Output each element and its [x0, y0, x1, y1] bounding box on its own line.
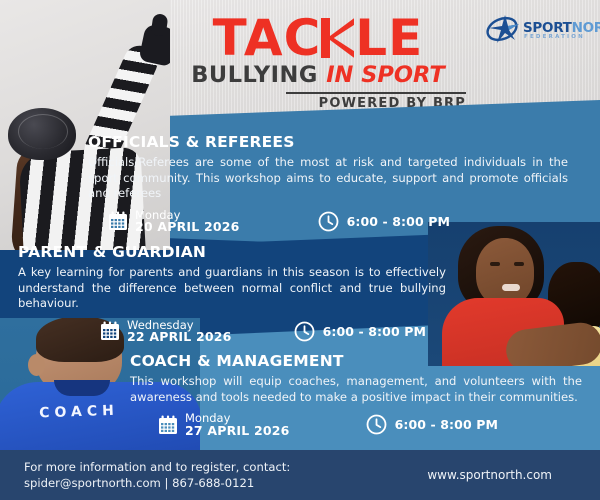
- poster-title-block: TAC LE BULLYING IN SPORT POWERED BY BRP: [168, 12, 468, 111]
- clock-icon: [318, 211, 339, 232]
- contact-block: For more information and to register, co…: [24, 460, 290, 491]
- time-group: 6:00 - 8:00 PM: [318, 211, 450, 232]
- event-date: 27 APRIL 2026: [185, 425, 290, 438]
- section-parent-guardian: PARENT & GUARDIAN A key learning for par…: [18, 243, 446, 344]
- parent-guardian-photo: [428, 222, 600, 366]
- calendar-icon: [108, 211, 128, 231]
- footer-bar: For more information and to register, co…: [0, 450, 600, 500]
- date-text: Monday 20 APRIL 2026: [135, 209, 240, 234]
- title-in-sport: IN SPORT: [326, 62, 445, 88]
- sportnorth-logo: SPORTNORTH FEDERATION: [485, 14, 590, 48]
- calendar-icon: [100, 321, 120, 341]
- clock-icon: [294, 321, 315, 342]
- section-body: Officials/Referees are some of the most …: [88, 155, 568, 202]
- poster-root: daretocare TAC LE BULLYING IN SPORT POWE…: [0, 0, 600, 500]
- time-group: 6:00 - 8:00 PM: [294, 321, 426, 342]
- compass-star-icon: [485, 14, 525, 46]
- title-tackle: TAC LE: [168, 12, 468, 64]
- title-k-glyph: [321, 12, 355, 64]
- title-tackle-part1: TAC: [213, 12, 322, 64]
- date-text: Wednesday 22 APRIL 2026: [127, 319, 232, 344]
- section-coach-management: COACH & MANAGEMENT This workshop will eq…: [130, 352, 582, 437]
- section-meta: Monday 20 APRIL 2026 6:00 - 8:00 PM: [88, 209, 568, 234]
- section-heading: COACH & MANAGEMENT: [130, 352, 582, 370]
- date-text: Monday 27 APRIL 2026: [185, 412, 290, 437]
- section-heading: OFFICIALS & REFEREES: [88, 133, 568, 151]
- section-body: This workshop will equip coaches, manage…: [130, 374, 582, 405]
- date-group: Monday 20 APRIL 2026: [108, 209, 240, 234]
- event-time: 6:00 - 8:00 PM: [395, 417, 498, 432]
- sportnorth-subtitle: FEDERATION: [524, 34, 585, 40]
- time-group: 6:00 - 8:00 PM: [366, 414, 498, 435]
- section-heading: PARENT & GUARDIAN: [18, 243, 446, 261]
- title-tackle-part2: LE: [355, 12, 423, 64]
- section-meta: Wednesday 22 APRIL 2026 6:00 - 8:00 PM: [18, 319, 446, 344]
- date-group: Monday 27 APRIL 2026: [158, 412, 290, 437]
- clock-icon: [366, 414, 387, 435]
- title-divider: [286, 92, 466, 94]
- section-meta: Monday 27 APRIL 2026 6:00 - 8:00 PM: [130, 412, 582, 437]
- title-bullying: BULLYING: [191, 62, 318, 88]
- website-link[interactable]: www.sportnorth.com: [427, 468, 552, 482]
- event-time: 6:00 - 8:00 PM: [323, 324, 426, 339]
- calendar-icon: [158, 415, 178, 435]
- section-body: A key learning for parents and guardians…: [18, 265, 446, 312]
- section-officials-referees: OFFICIALS & REFEREES Officials/Referees …: [88, 133, 568, 234]
- event-time: 6:00 - 8:00 PM: [347, 214, 450, 229]
- event-date: 22 APRIL 2026: [127, 331, 232, 344]
- title-subline: BULLYING IN SPORT: [168, 62, 468, 88]
- date-group: Wednesday 22 APRIL 2026: [100, 319, 232, 344]
- event-date: 20 APRIL 2026: [135, 221, 240, 234]
- contact-prompt: For more information and to register, co…: [24, 460, 290, 476]
- contact-details[interactable]: spider@sportnorth.com | 867-688-0121: [24, 476, 290, 492]
